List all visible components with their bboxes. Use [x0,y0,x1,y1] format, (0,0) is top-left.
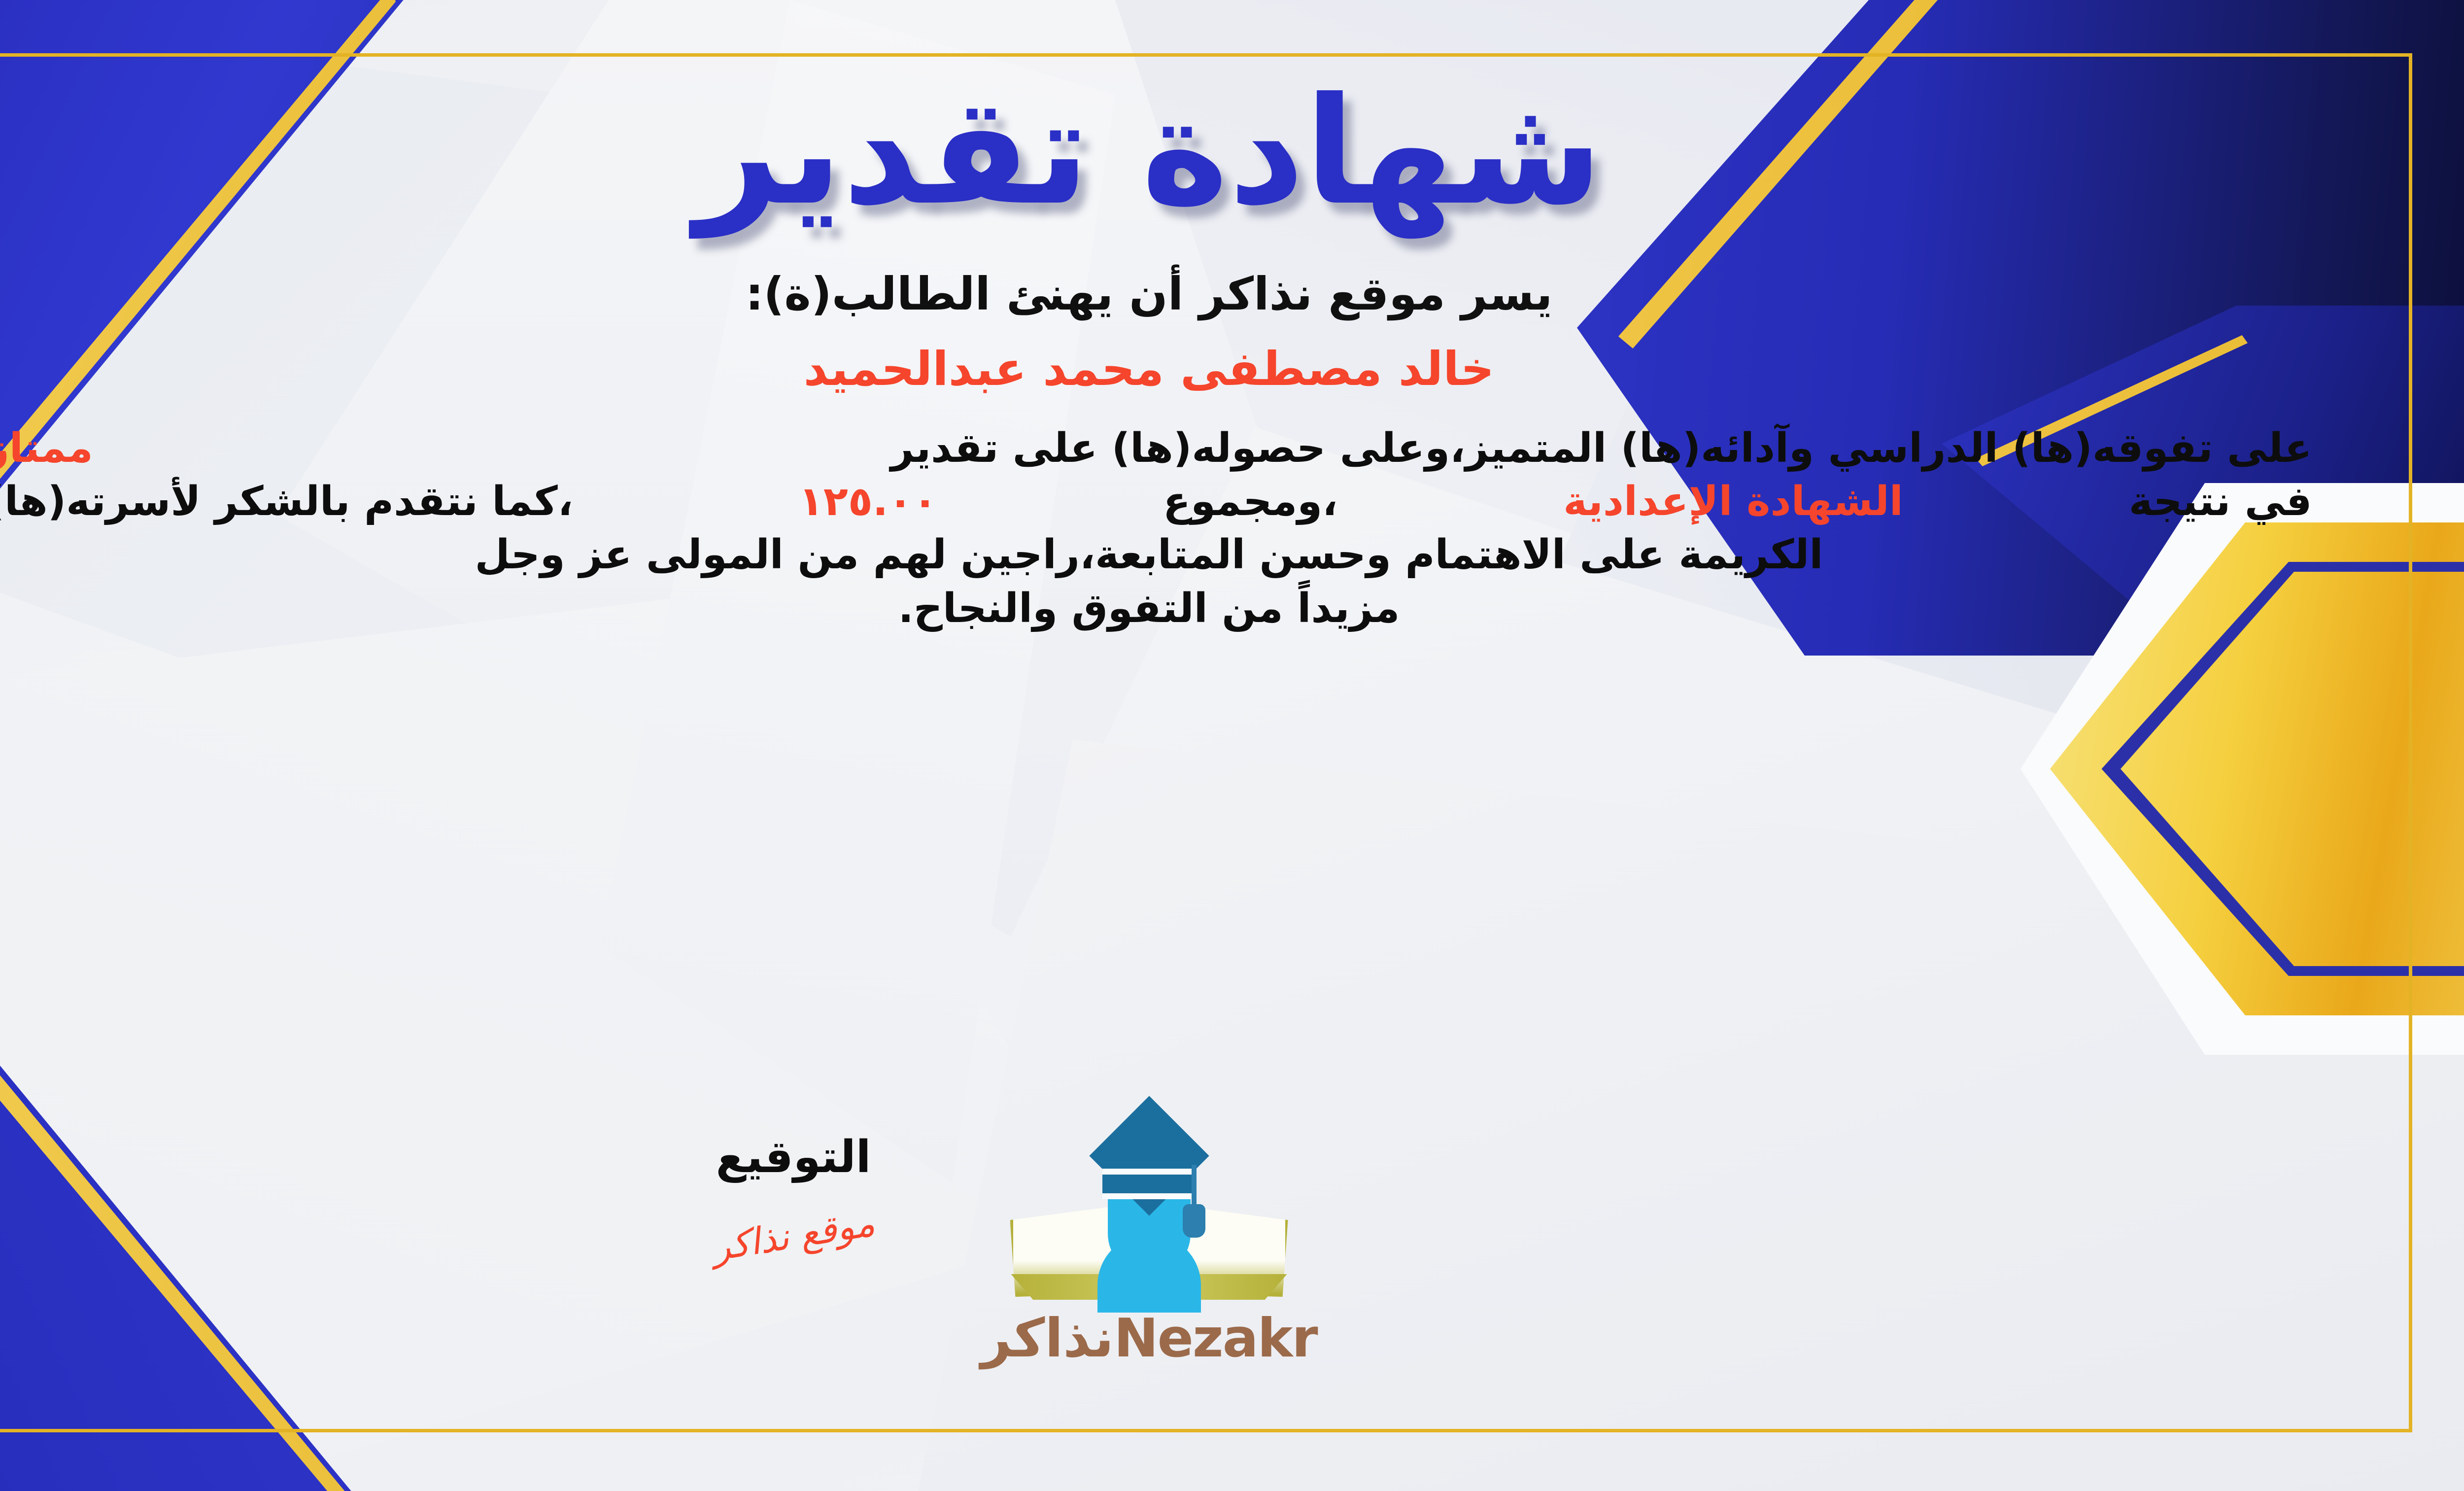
body-line-2: في نتيجة الشهادة الإعدادية ،ومجموع ١٢٥.٠… [0,475,2312,528]
certificate-title: شهادة تقدير [0,59,2385,229]
student-name: خالد مصطفى محمد عبدالحميد [0,342,2385,396]
graduation-cap-icon-tassel-cord [1192,1165,1197,1207]
signature-label: التوقيع [621,1131,966,1183]
logo-wordmark: Nezakrنذاكر [962,1308,1336,1369]
graduation-cap-icon-band [1102,1169,1196,1199]
nezakr-logo: Nezakrنذاكر [962,1111,1336,1369]
signature-script: موقع نذاكر [620,1188,967,1283]
grade-value: ممتاز [0,422,93,475]
line-2-suffix: ،كما نتقدم بالشكر لأسرته(ها) [0,475,573,528]
greeting-line: يسر موقع نذاكر أن يهنئ الطالب(ة): [0,268,2385,320]
exam-name: الشهادة الإعدادية [1563,475,1903,528]
graduation-cap-icon-tassel [1183,1204,1205,1238]
total-score: ١٢٥.٠٠ [799,475,937,528]
body-line-4: مزيداً من التفوق والنجاح. [0,582,2312,635]
body-line-3: الكريمة على الاهتمام وحسن المتابعة،راجين… [0,528,2312,582]
body-line-1-text: على تفوقه(ها) الدراسي وآدائه(ها) المتميز… [890,422,2312,475]
certificate-page: شهادة تقدير يسر موقع نذاكر أن يهنئ الطال… [0,0,2464,1491]
line-2-mid: ،ومجموع [1163,475,1337,528]
body-line-1: على تفوقه(ها) الدراسي وآدائه(ها) المتميز… [0,422,2312,475]
body-line-3-text: الكريمة على الاهتمام وحسن المتابعة،راجين… [475,528,1823,582]
certificate-content: شهادة تقدير يسر موقع نذاكر أن يهنئ الطال… [0,59,2385,635]
body-line-4-text: مزيداً من التفوق والنجاح. [898,582,1400,635]
signature-block: التوقيع موقع نذاكر [621,1131,966,1257]
certificate-body: على تفوقه(ها) الدراسي وآدائه(ها) المتميز… [0,422,2312,635]
line-2-prefix: في نتيجة [2129,475,2312,528]
logo-mark [996,1111,1302,1304]
certificate-footer: التوقيع موقع نذاكر Nezakrنذاكر [0,1111,2385,1417]
